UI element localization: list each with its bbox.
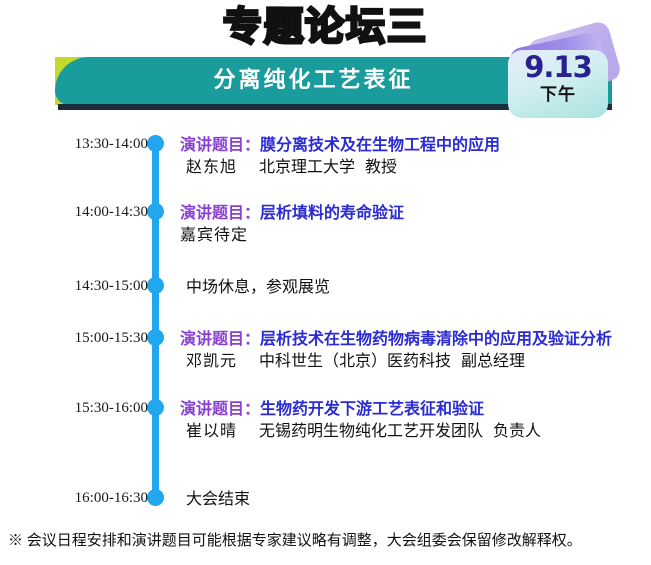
agenda-topic: 层析技术在生物药物病毒清除中的应用及验证分析 [260, 331, 612, 348]
agenda-affiliation: 北京理工大学 [259, 159, 355, 176]
agenda-content: 演讲题目：层析填料的寿命验证 嘉宾待定 [180, 204, 650, 248]
badge-date-text: 9.13 [508, 50, 608, 84]
agenda-content: 大会结束 [180, 490, 650, 510]
badge-ampm-text: 下午 [508, 84, 608, 106]
agenda-speaker-line: 邓凯元中科世生（北京）医药科技副总经理 [180, 350, 650, 374]
timeline-dot [147, 203, 164, 220]
agenda-speaker: 崔以晴 [186, 423, 237, 440]
agenda-time: 14:30-15:00 [0, 278, 148, 295]
agenda-title-line: 演讲题目：膜分离技术及在生物工程中的应用 [180, 136, 650, 156]
agenda-time: 16:00-16:30 [0, 490, 148, 507]
footnote: ※ 会议日程安排和演讲题目可能根据专家建议略有调整，大会组委会保留修改解释权。 [8, 530, 651, 552]
agenda-label: 演讲题目： [180, 331, 260, 348]
agenda-role: 副总经理 [461, 353, 525, 370]
agenda-speaker-line: 崔以晴无锡药明生物纯化工艺开发团队负责人 [180, 420, 650, 444]
agenda-speaker-line: 赵东旭北京理工大学教授 [180, 156, 650, 180]
agenda-label: 演讲题目： [180, 205, 260, 222]
agenda-title-line: 演讲题目：层析技术在生物药物病毒清除中的应用及验证分析 [180, 330, 650, 350]
agenda-content: 中场休息，参观展览 [180, 278, 650, 298]
agenda-topic: 生物药开发下游工艺表征和验证 [260, 401, 484, 418]
agenda-affiliation: 无锡药明生物纯化工艺开发团队 [259, 423, 483, 440]
agenda-label: 演讲题目： [180, 401, 260, 418]
timeline-dot [147, 489, 164, 506]
agenda-content: 演讲题目：生物药开发下游工艺表征和验证 崔以晴无锡药明生物纯化工艺开发团队负责人 [180, 400, 650, 444]
agenda-speaker: 嘉宾待定 [180, 227, 248, 244]
timeline-dot [147, 399, 164, 416]
agenda-time: 15:30-16:00 [0, 400, 148, 417]
agenda-time: 13:30-14:00 [0, 136, 148, 153]
timeline-dot [147, 135, 164, 152]
agenda-speaker: 赵东旭 [186, 159, 237, 176]
agenda-plain-text: 中场休息，参观展览 [180, 278, 650, 298]
date-badge: 9.13 下午 [498, 28, 648, 120]
agenda-time: 14:00-14:30 [0, 204, 148, 221]
agenda-role: 负责人 [493, 423, 541, 440]
agenda-time: 15:00-15:30 [0, 330, 148, 347]
agenda-affiliation: 中科世生（北京）医药科技 [259, 353, 451, 370]
agenda-role: 教授 [365, 159, 397, 176]
agenda-title-line: 演讲题目：生物药开发下游工艺表征和验证 [180, 400, 650, 420]
timeline-dot [147, 329, 164, 346]
agenda-topic: 层析填料的寿命验证 [260, 205, 404, 222]
agenda-speaker-line: 嘉宾待定 [180, 224, 650, 248]
agenda-title-line: 演讲题目：层析填料的寿命验证 [180, 204, 650, 224]
agenda-content: 演讲题目：层析技术在生物药物病毒清除中的应用及验证分析 邓凯元中科世生（北京）医… [180, 330, 650, 374]
agenda-plain-text: 大会结束 [180, 490, 650, 510]
agenda-speaker: 邓凯元 [186, 353, 237, 370]
agenda-label: 演讲题目： [180, 137, 260, 154]
agenda-content: 演讲题目：膜分离技术及在生物工程中的应用 赵东旭北京理工大学教授 [180, 136, 650, 180]
agenda-topic: 膜分离技术及在生物工程中的应用 [260, 137, 500, 154]
forum-agenda-poster: 专题论坛三 分离纯化工艺表征 9.13 下午 13:30-14:00 演讲题目：… [0, 0, 651, 565]
timeline-line [152, 143, 159, 499]
timeline-dot [147, 277, 164, 294]
